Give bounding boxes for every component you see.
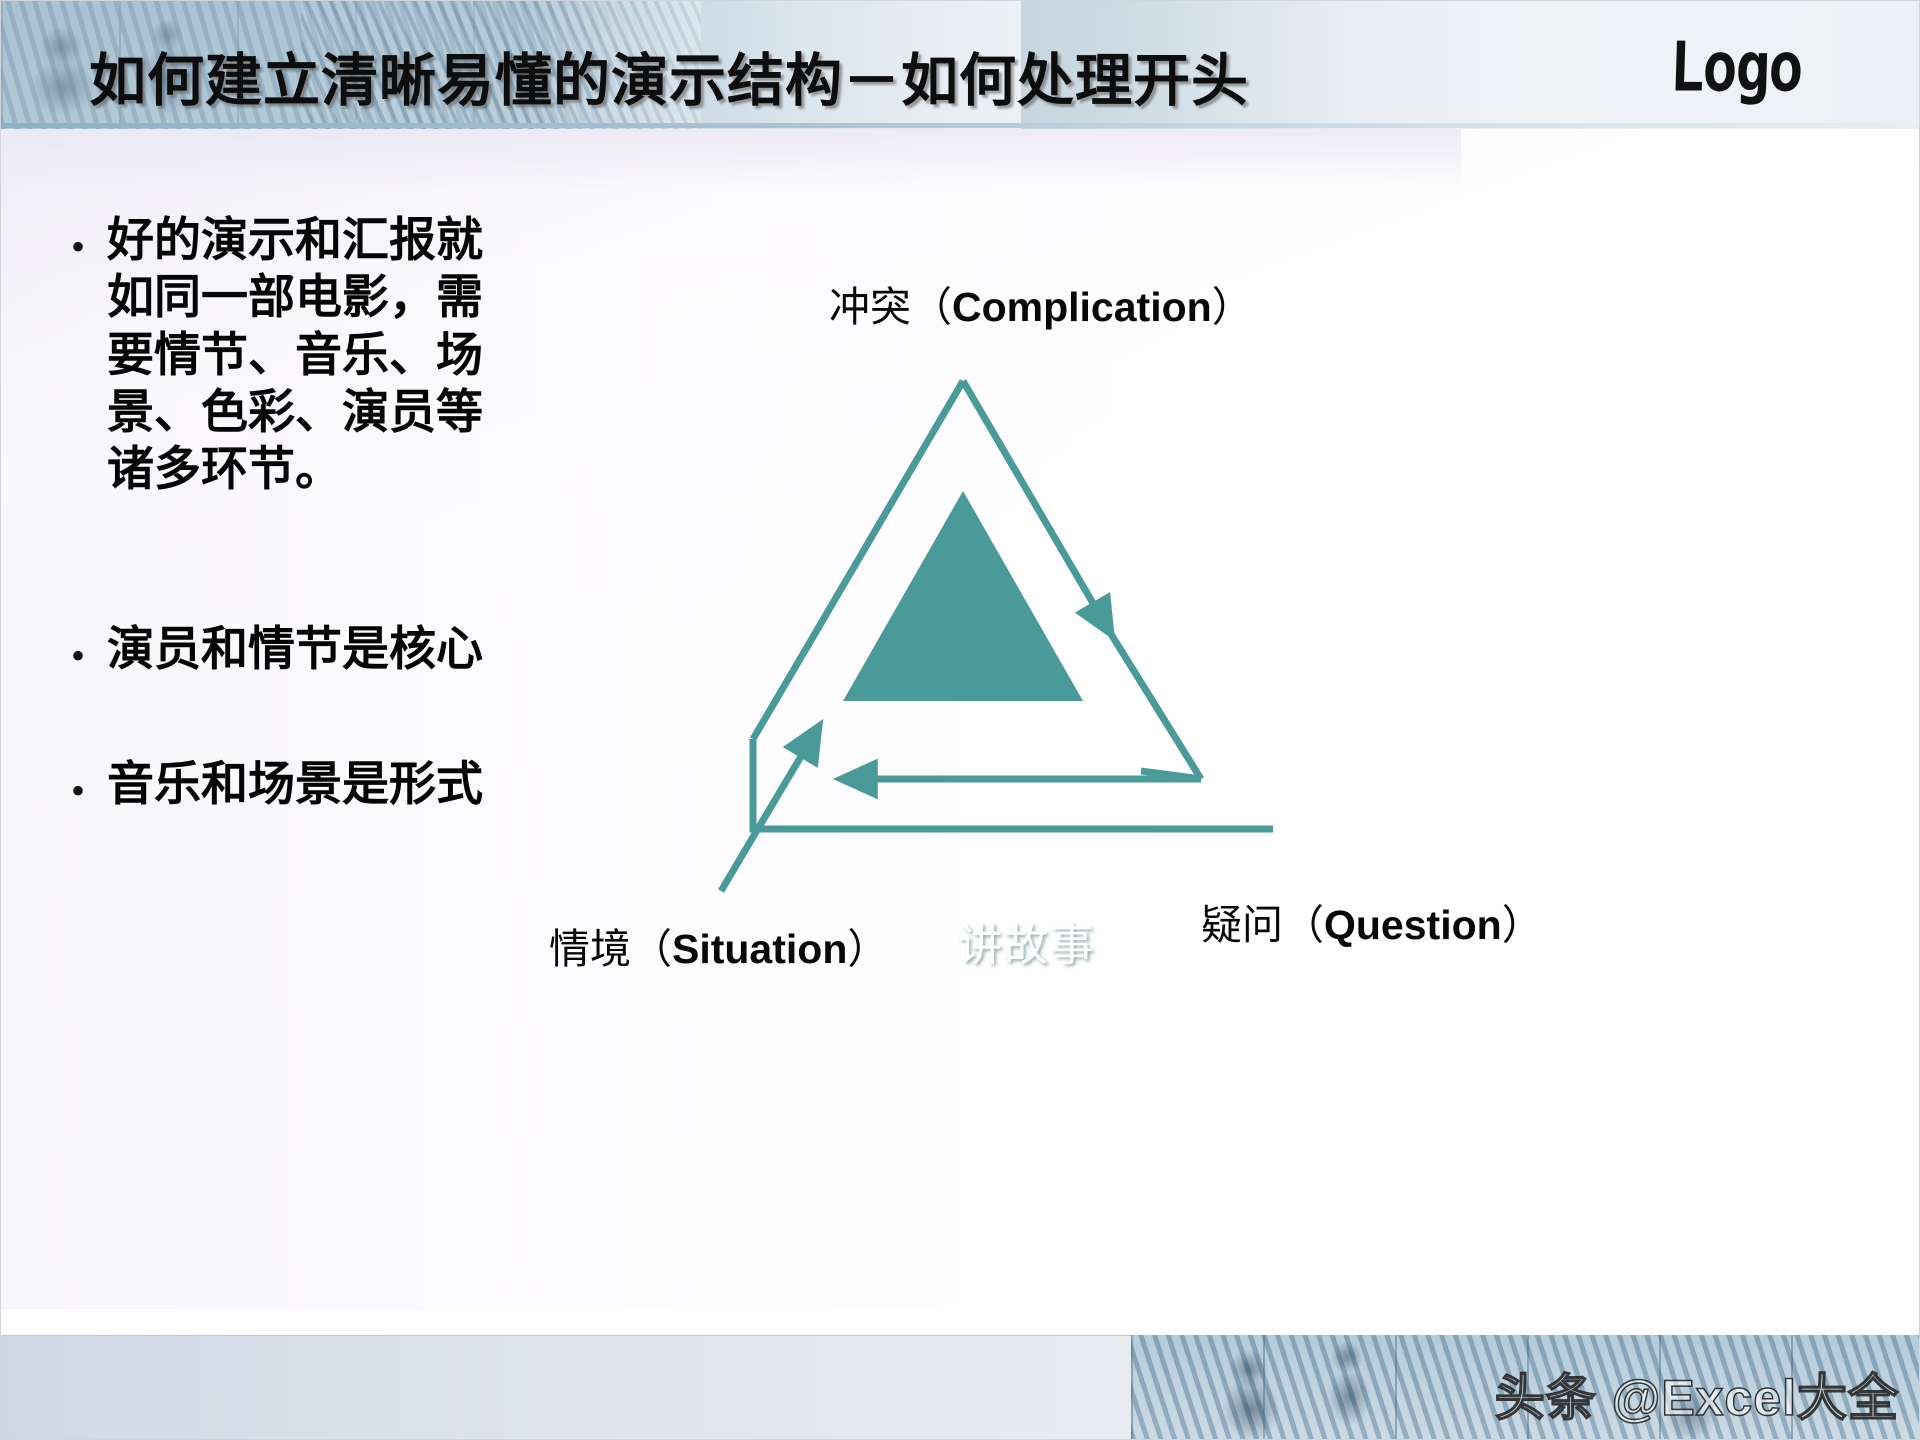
edge-question-to-situation — [841, 771, 1201, 779]
edge-situation-to-complication — [721, 726, 819, 891]
label-complication-paren-close: ） — [1212, 284, 1253, 330]
label-situation-paren-close: ） — [847, 926, 888, 972]
label-question-en: Question — [1324, 902, 1502, 948]
list-item: • 好的演示和汇报就如同一部电影，需要情节、音乐、场景、色彩、演员等诸多环节。 — [49, 213, 569, 500]
logo: Logo — [1669, 27, 1803, 107]
bullet-text: 好的演示和汇报就如同一部电影，需要情节、音乐、场景、色彩、演员等诸多环节。 — [107, 213, 507, 500]
triangle-side-right — [1111, 634, 1201, 779]
label-situation-en: Situation — [672, 926, 847, 972]
page-title: 如何建立清晰易懂的演示结构－如何处理开头 — [89, 35, 1249, 117]
label-question: 疑问（Question） — [1201, 891, 1543, 951]
label-complication-cn: 冲突 — [829, 284, 911, 330]
watermark-text: 头条 @Excel大全 — [1495, 1358, 1899, 1430]
bullet-text: 音乐和场景是形式 — [107, 757, 483, 814]
label-question-paren-open: （ — [1283, 902, 1324, 948]
scq-triangle-diagram: 讲故事 冲突（Complication） 情境（Situation） 疑问（Qu… — [641, 301, 1901, 1101]
center-label: 讲故事 — [897, 909, 1157, 973]
label-question-paren-close: ） — [1502, 902, 1543, 948]
label-question-cn: 疑问 — [1201, 902, 1283, 948]
label-situation-paren-open: （ — [631, 926, 672, 972]
list-item: • 演员和情节是核心 — [49, 622, 569, 679]
bullet-marker-icon: • — [49, 757, 107, 811]
header-underline — [1, 123, 1920, 128]
triangle-side-left-lower — [753, 671, 793, 739]
label-complication-paren-open: （ — [911, 284, 952, 330]
slide-header: 如何建立清晰易懂的演示结构－如何处理开头 Logo — [1, 1, 1920, 129]
triangle-graphic — [641, 301, 1901, 1101]
label-situation-cn: 情境 — [549, 926, 631, 972]
bullet-marker-icon: • — [49, 622, 107, 676]
slide: 如何建立清晰易懂的演示结构－如何处理开头 Logo • 好的演示和汇报就如同一部… — [0, 0, 1920, 1440]
bullet-list: • 好的演示和汇报就如同一部电影，需要情节、音乐、场景、色彩、演员等诸多环节。 … — [49, 213, 569, 820]
list-item: • 音乐和场景是形式 — [49, 757, 569, 814]
triangle-side-bottom — [753, 739, 1273, 829]
slide-footer: 头条 @Excel大全 — [1, 1335, 1920, 1439]
label-complication: 冲突（Complication） — [829, 273, 1253, 333]
bullet-text: 演员和情节是核心 — [107, 622, 483, 679]
label-complication-en: Complication — [952, 284, 1212, 330]
label-situation: 情境（Situation） — [549, 915, 888, 975]
bullet-marker-icon: • — [49, 213, 107, 267]
